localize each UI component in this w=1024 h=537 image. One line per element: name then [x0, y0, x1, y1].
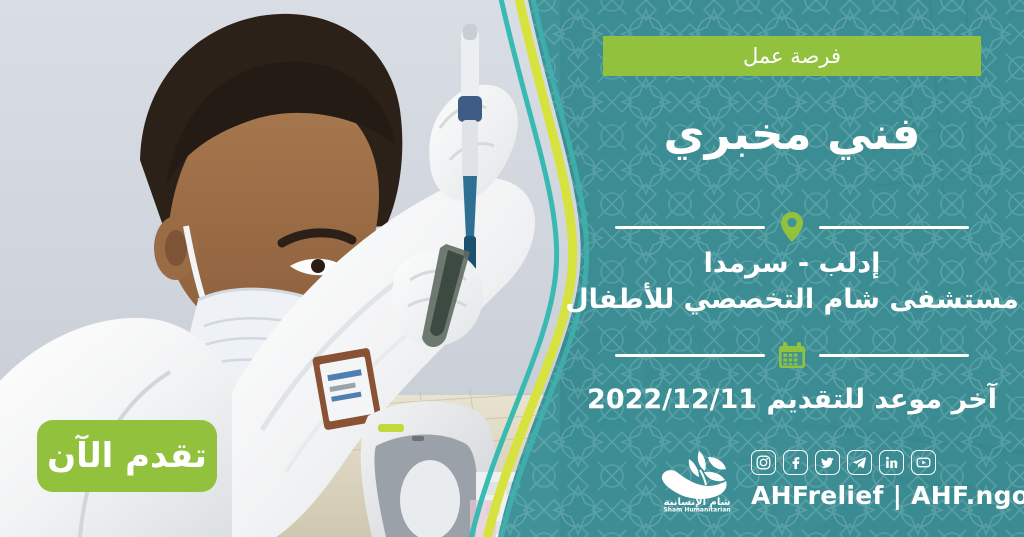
application-deadline: آخر موعد للتقديم 2022/12/11 [560, 384, 1024, 416]
banner-label: فرصة عمل [743, 46, 841, 67]
map-pin-icon [777, 212, 807, 242]
location-divider-row [582, 212, 1002, 242]
apply-now-button[interactable]: تقدم الآن [37, 420, 217, 492]
location-facility: مستشفى شام التخصصي للأطفال [560, 284, 1024, 316]
social-links[interactable] [751, 450, 936, 475]
logo-name-en: Sham Humanitarian [663, 507, 730, 513]
hand-with-leaves-logo: شام الإنسانية Sham Humanitarian [655, 448, 740, 512]
panel-content: فرصة عمل فني مخبري إدلب - سرمدا مستشفى ش… [560, 0, 1024, 537]
twitter-icon[interactable] [815, 450, 840, 475]
job-vacancy-poster: فرصة عمل فني مخبري إدلب - سرمدا مستشفى ش… [0, 0, 1024, 537]
footer: شام الإنسانية Sham Humanitarian [655, 448, 1000, 518]
facebook-icon[interactable] [783, 450, 808, 475]
divider-rule-left [819, 226, 969, 229]
divider-rule-right [615, 354, 765, 357]
calendar-icon [777, 340, 807, 370]
instagram-icon[interactable] [751, 450, 776, 475]
job-title: فني مخبري [560, 108, 1024, 160]
youtube-icon[interactable] [911, 450, 936, 475]
location-city: إدلب - سرمدا [560, 248, 1024, 280]
divider-rule-left [819, 354, 969, 357]
deadline-divider-row [582, 340, 1002, 370]
divider-rule-right [615, 226, 765, 229]
social-handles: AHFrelief | AHF.ngo [751, 481, 1024, 510]
telegram-icon[interactable] [847, 450, 872, 475]
job-opportunity-banner: فرصة عمل [603, 36, 981, 76]
linkedin-icon[interactable] [879, 450, 904, 475]
